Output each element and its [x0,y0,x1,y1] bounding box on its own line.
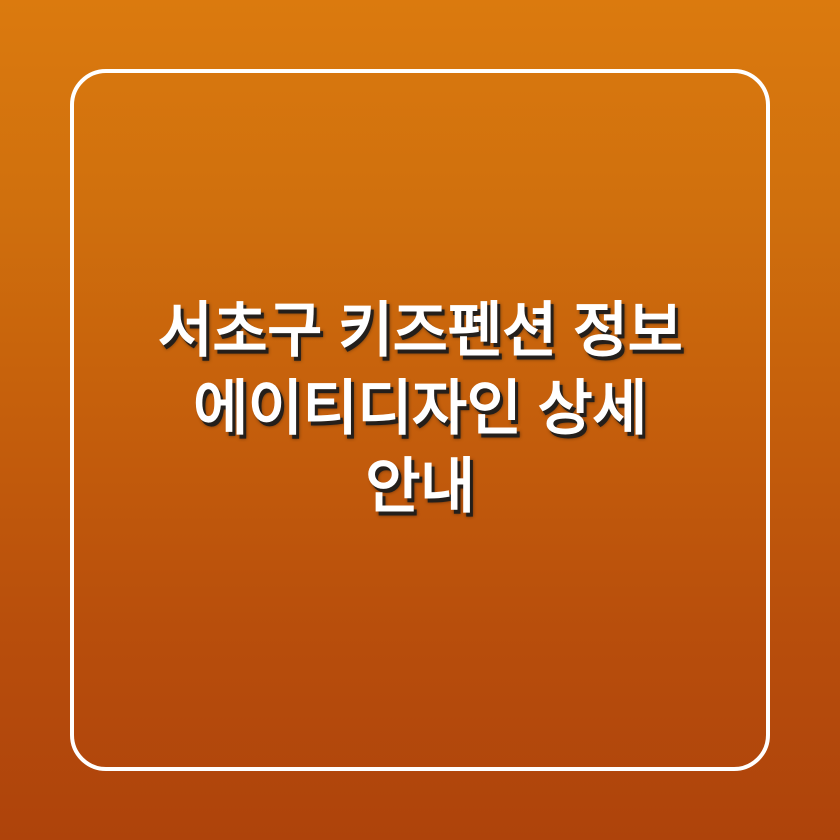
banner-card: 서초구 키즈펜션 정보 에이티디자인 상세 안내 [0,0,840,840]
headline-line-1: 서초구 키즈펜션 정보 [0,292,840,370]
headline-line-3: 안내 [0,448,840,526]
headline-block: 서초구 키즈펜션 정보 에이티디자인 상세 안내 [0,0,840,840]
headline-line-2: 에이티디자인 상세 [0,370,840,448]
